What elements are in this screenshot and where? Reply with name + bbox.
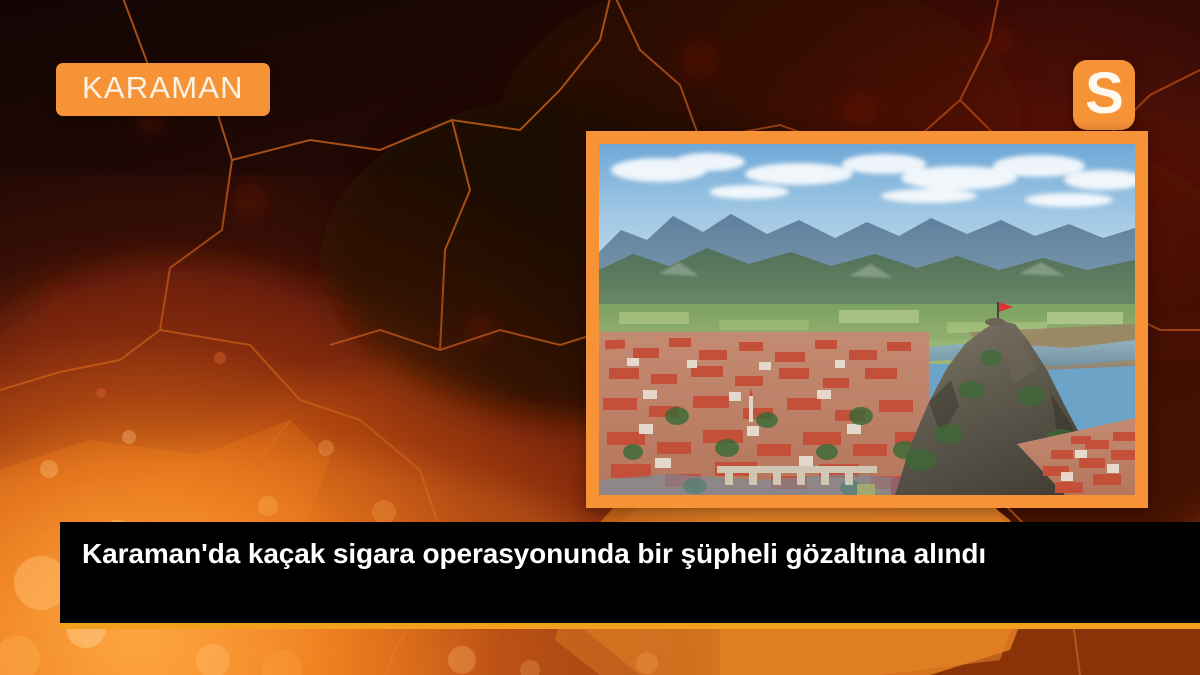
headline-bar: Karaman'da kaçak sigara operasyonunda bi… (60, 522, 1200, 629)
brand-logo[interactable]: S (1073, 60, 1135, 130)
sabah-s-logo-icon: S (1085, 65, 1123, 123)
province-badge-label: KARAMAN (82, 70, 244, 106)
news-photo (599, 144, 1135, 495)
town-panorama-illustration (599, 144, 1135, 495)
news-photo-card (586, 131, 1148, 508)
province-badge: KARAMAN (56, 63, 270, 116)
headline-text: Karaman'da kaçak sigara operasyonunda bi… (60, 522, 1142, 573)
news-card: KARAMAN S (0, 0, 1200, 675)
